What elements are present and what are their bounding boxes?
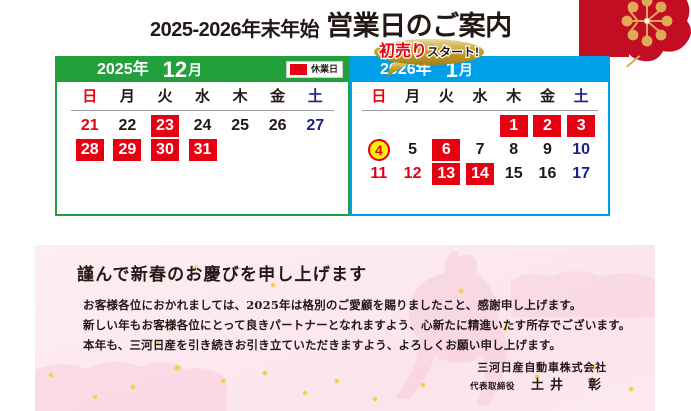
calendar-cell-empty — [259, 139, 297, 161]
signature-company: 三河日産自動車株式会社 — [470, 359, 607, 377]
calendar-day-number: 9 — [543, 142, 552, 158]
calendar-day-number: 25 — [231, 118, 249, 134]
calendar-day-cell[interactable]: 24 — [184, 115, 222, 137]
calendar-december-year: 2025年 — [97, 62, 149, 78]
signature-role: 代表取締役 — [470, 381, 515, 395]
calendar-day-number: 14 — [471, 166, 489, 182]
calendar-day-number: 24 — [194, 118, 212, 134]
title-period: 2025-2026年末年始 — [150, 20, 319, 40]
calendar-cell-empty — [71, 163, 109, 185]
greeting-panel: 謹んで新春のお慶びを申し上げます お客様各位におかれましては、2025年は格別の… — [35, 245, 655, 411]
calendar-day-number: 2 — [543, 118, 552, 134]
calendar-january-grid: 初売り スタート! 1234567891011121314151617 — [362, 115, 598, 185]
calendar-cell-empty — [221, 139, 259, 161]
calendar-day-number: 15 — [505, 166, 523, 182]
closed-day-label: 休業日 — [311, 65, 338, 74]
calendar-december-month-suffix: 月 — [188, 63, 202, 77]
weekday-sun: 日 — [362, 89, 396, 106]
page-title: 2025-2026年末年始 営業日のご案内 — [150, 13, 512, 40]
calendar-day-cell[interactable]: 9 — [531, 139, 565, 161]
calendar-cell-empty — [259, 163, 297, 185]
calendar-day-cell[interactable]: 6 — [429, 139, 463, 161]
calendar-day-number: 3 — [577, 118, 586, 134]
calendar-january-year: 2026年 — [380, 62, 432, 78]
calendar-january-month: 1 — [446, 59, 458, 81]
calendar-week-row: 45678910 — [362, 139, 598, 161]
calendar-day-number: 1 — [509, 118, 518, 134]
calendar-december-weekday-row: 日 月 火 水 木 金 土 — [71, 89, 334, 111]
weekday-mon: 月 — [396, 89, 430, 106]
calendar-week-row: 11121314151617 — [362, 163, 598, 185]
calendar-day-number: 28 — [81, 142, 99, 158]
calendar-week-row: 21222324252627 — [71, 115, 334, 137]
calendar-cell-empty — [396, 115, 430, 137]
calendar-december-grid: 2122232425262728293031 — [71, 115, 334, 185]
weekday-thu: 木 — [497, 89, 531, 106]
weekday-thu: 木 — [221, 89, 259, 106]
closed-day-legend: 休業日 — [286, 61, 343, 78]
title-headline: 営業日のご案内 — [326, 13, 512, 40]
page-header: 2025-2026年末年始 営業日のご案内 — [0, 0, 691, 50]
weekday-sat: 土 — [564, 89, 598, 106]
calendar-day-cell[interactable]: 15 — [497, 163, 531, 185]
calendar-january-header: 2026年 1 月 — [352, 58, 608, 82]
calendar-day-cell[interactable]: 11 — [362, 163, 396, 185]
calendar-day-cell[interactable]: 29 — [109, 139, 147, 161]
calendar-day-cell[interactable]: 16 — [531, 163, 565, 185]
calendar-december: 2025年 12 月 休業日 日 月 火 水 木 金 土 21222324252… — [55, 56, 350, 216]
weekday-mon: 月 — [109, 89, 147, 106]
calendar-day-cell[interactable]: 22 — [109, 115, 147, 137]
calendar-day-cell[interactable]: 21 — [71, 115, 109, 137]
signature-name-row: 代表取締役 土井 彰 — [470, 376, 607, 397]
calendar-day-number: 16 — [539, 166, 557, 182]
calendar-day-cell[interactable]: 27 — [296, 115, 334, 137]
greeting-title: 謹んで新春のお慶びを申し上げます — [77, 260, 367, 285]
calendar-december-month: 12 — [163, 59, 187, 81]
calendar-day-cell[interactable]: 2 — [531, 115, 565, 137]
calendar-day-number: 31 — [194, 142, 212, 158]
calendar-day-number: 29 — [118, 142, 136, 158]
calendar-week-row: 28293031 — [71, 139, 334, 161]
calendar-day-number: 10 — [572, 142, 590, 158]
weekday-wed: 水 — [463, 89, 497, 106]
calendar-january-weekday-row: 日 月 火 水 木 金 土 — [362, 89, 598, 111]
weekday-tue: 火 — [146, 89, 184, 106]
signature-name: 土井 彰 — [531, 376, 607, 397]
calendar-day-cell[interactable]: 12 — [396, 163, 430, 185]
closed-day-swatch — [290, 64, 307, 75]
calendar-day-cell[interactable]: 4 — [362, 139, 396, 161]
calendar-day-cell[interactable]: 10 — [564, 139, 598, 161]
calendar-cell-empty — [429, 115, 463, 137]
calendar-day-number: 13 — [437, 166, 455, 182]
calendar-day-number: 27 — [306, 118, 324, 134]
calendar-day-cell[interactable]: 23 — [146, 115, 184, 137]
weekday-sat: 土 — [296, 89, 334, 106]
weekday-fri: 金 — [531, 89, 565, 106]
calendar-day-cell[interactable]: 13 — [429, 163, 463, 185]
calendar-week-row: 123 — [362, 115, 598, 137]
weekday-wed: 水 — [184, 89, 222, 106]
calendar-day-cell[interactable]: 5 — [396, 139, 430, 161]
calendar-cell-empty — [146, 163, 184, 185]
calendar-day-cell[interactable]: 1 — [497, 115, 531, 137]
calendar-january: 2026年 1 月 日 月 火 水 木 金 土 — [350, 56, 610, 216]
calendar-cell-empty — [362, 115, 396, 137]
calendar-day-number: 22 — [118, 118, 136, 134]
weekday-tue: 火 — [429, 89, 463, 106]
calendar-day-cell[interactable]: 30 — [146, 139, 184, 161]
calendar-day-cell[interactable]: 25 — [221, 115, 259, 137]
calendar-day-number: 7 — [476, 142, 485, 158]
calendar-cell-empty — [184, 163, 222, 185]
calendar-day-cell[interactable]: 31 — [184, 139, 222, 161]
calendar-day-number: 4 — [368, 139, 390, 161]
greeting-line: 本年も、三河日産を引き続きお引き立ていただきますよう、よろしくお願い申し上げます… — [83, 335, 630, 355]
calendar-day-number: 26 — [269, 118, 287, 134]
calendar-day-number: 23 — [156, 118, 174, 134]
announcement-page: 2025-2026年末年始 営業日のご案内 — [0, 0, 691, 411]
greeting-line: お客様各位におかれましては、2025年は格別のご愛顧を賜りましたこと、感謝申し上… — [83, 295, 630, 315]
calendar-day-number: 5 — [408, 142, 417, 158]
calendar-december-header: 2025年 12 月 休業日 — [57, 58, 348, 82]
calendar-day-cell[interactable]: 28 — [71, 139, 109, 161]
calendar-january-month-suffix: 月 — [459, 63, 473, 77]
greeting-line: 新しい年もお客様各位にとって良きパートナーとなれますよう、心新たに精進いたす所存… — [83, 315, 630, 335]
calendar-day-number: 17 — [572, 166, 590, 182]
calendar-day-number: 11 — [370, 166, 387, 182]
calendar-day-number: 30 — [156, 142, 174, 158]
calendar-week-row — [71, 163, 334, 185]
calendar-cell-empty — [296, 139, 334, 161]
weekday-fri: 金 — [259, 89, 297, 106]
calendar-day-cell[interactable]: 17 — [564, 163, 598, 185]
calendar-day-number: 21 — [81, 118, 99, 134]
calendar-day-cell[interactable]: 14 — [463, 163, 497, 185]
calendar-day-number: 8 — [509, 142, 518, 158]
calendar-cell-empty — [296, 163, 334, 185]
signature-block: 三河日産自動車株式会社 代表取締役 土井 彰 — [470, 359, 607, 397]
calendar-day-cell[interactable]: 3 — [564, 115, 598, 137]
calendar-cell-empty — [463, 115, 497, 137]
greeting-body: お客様各位におかれましては、2025年は格別のご愛顧を賜りましたこと、感謝申し上… — [83, 295, 630, 355]
calendar-day-cell[interactable]: 26 — [259, 115, 297, 137]
calendar-day-number: 12 — [404, 166, 422, 182]
weekday-sun: 日 — [71, 89, 109, 106]
calendar-day-number: 6 — [442, 142, 451, 158]
calendar-cell-empty — [109, 163, 147, 185]
calendar-cell-empty — [221, 163, 259, 185]
calendar-day-cell[interactable]: 7 — [463, 139, 497, 161]
calendar-day-cell[interactable]: 8 — [497, 139, 531, 161]
